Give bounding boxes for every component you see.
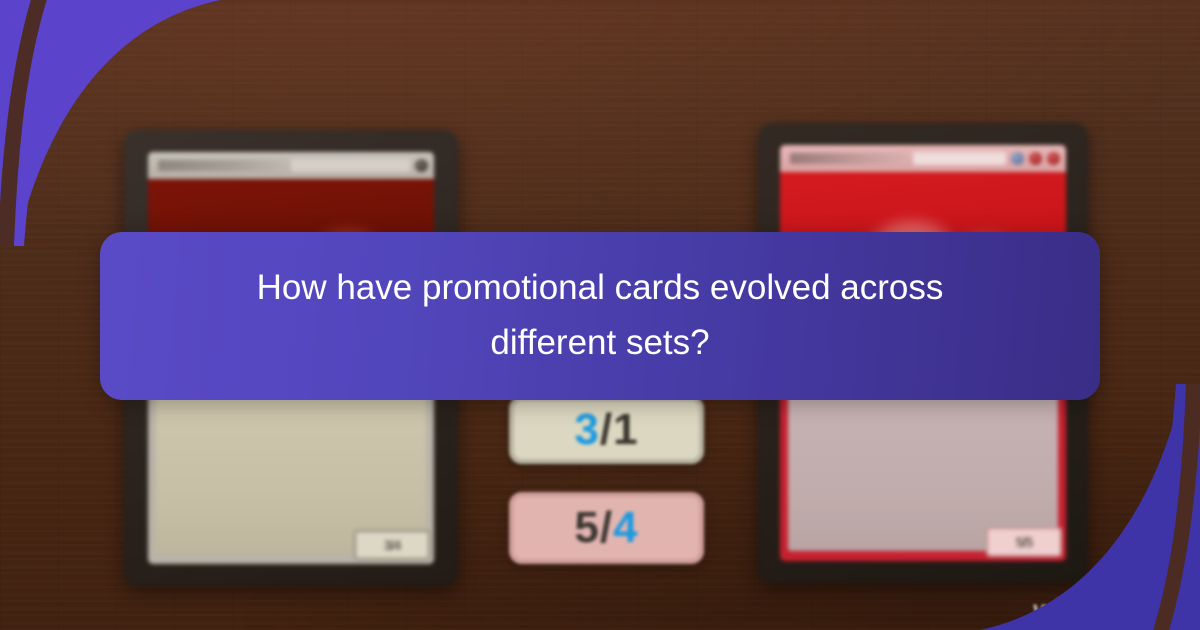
card-left-pt-box: 3/4 <box>354 530 430 560</box>
card-right-pt-value: 5/5 <box>988 529 1060 555</box>
card-left-name-fill <box>291 159 410 172</box>
card-left-name-text <box>158 160 286 171</box>
counter-top-toughness: 1 <box>613 405 638 455</box>
card-left-titlebar <box>148 152 434 179</box>
counter-bottom-separator: / <box>600 503 613 553</box>
card-right-pt-box: 5/5 <box>986 527 1062 557</box>
counter-top-separator: / <box>600 405 613 455</box>
mana-symbol-red-icon <box>1047 152 1060 165</box>
card-left-textbox: 3/4 <box>156 376 426 554</box>
site-watermark: wiki <box>1033 594 1082 626</box>
counter-bottom-power: 5 <box>574 503 599 553</box>
card-right-name-fill <box>913 152 1006 165</box>
counter-top-power: 3 <box>574 405 599 455</box>
power-toughness-counter-white: 3 / 1 <box>509 396 704 464</box>
share-card-canvas: 3/4 5/5 <box>0 0 1200 630</box>
card-right-name-text <box>790 153 908 164</box>
counter-bottom-toughness: 4 <box>613 503 638 553</box>
mana-symbol-icon <box>415 159 428 172</box>
mana-symbol-red-icon <box>1029 152 1042 165</box>
mana-symbol-blue-icon <box>1011 152 1024 165</box>
card-left-pt-value: 3/4 <box>356 532 428 558</box>
power-toughness-counter-pink: 5 / 4 <box>509 492 704 564</box>
card-right-titlebar <box>780 145 1066 172</box>
question-banner: How have promotional cards evolved acros… <box>100 232 1100 400</box>
question-text: How have promotional cards evolved acros… <box>200 261 1000 370</box>
